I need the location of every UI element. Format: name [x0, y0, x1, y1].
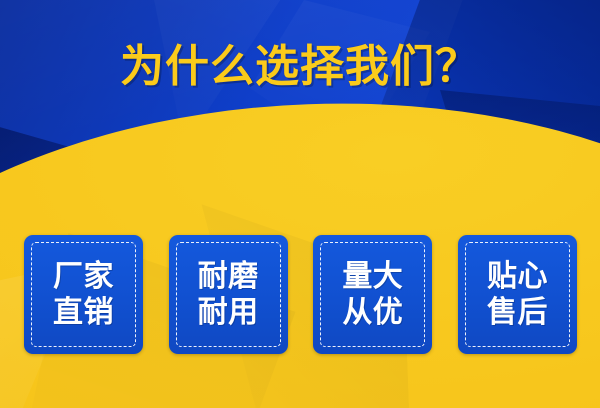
feature-card-label: 厂家 直销	[53, 259, 114, 331]
feature-card-label: 量大 从优	[342, 259, 403, 331]
feature-card-wear-resistant[interactable]: 耐磨 耐用	[169, 235, 288, 354]
headline-text: 为什么选择我们？	[0, 40, 600, 94]
promo-banner: 为什么选择我们？ 厂家 直销 耐磨 耐用 量大 从优 贴心 售后	[0, 0, 600, 408]
feature-card-label: 耐磨 耐用	[198, 259, 259, 331]
feature-card-row: 厂家 直销 耐磨 耐用 量大 从优 贴心 售后	[24, 235, 577, 354]
feature-card-factory-direct[interactable]: 厂家 直销	[24, 235, 143, 354]
feature-card-bulk-discount[interactable]: 量大 从优	[313, 235, 432, 354]
feature-card-after-sales[interactable]: 贴心 售后	[458, 235, 577, 354]
feature-card-label: 贴心 售后	[487, 259, 548, 331]
